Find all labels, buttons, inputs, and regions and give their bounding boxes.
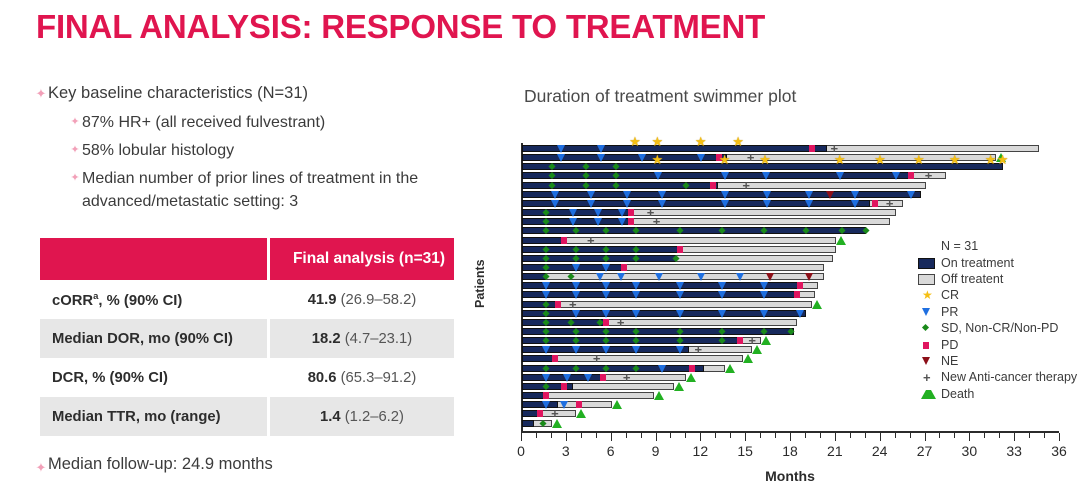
marker-pr-icon [718,291,726,299]
swimmer-bar [522,273,824,280]
marker-pr-icon [542,346,550,354]
marker-pr-icon [836,172,844,180]
marker-pr-icon [907,191,915,199]
swimmer-bar [522,237,836,244]
swimmer-bar [522,191,921,198]
marker-pr-icon [721,191,729,199]
marker-ne-icon [766,273,774,281]
marker-pr-icon [584,374,592,382]
x-axis-tick [880,433,881,441]
footnote-marker: a [93,291,98,302]
swimmer-bar [522,392,654,399]
x-axis-tick-label: 33 [1006,443,1022,459]
swimmer-bar [522,355,743,362]
bar-segment-on-treatment [522,282,800,289]
swimmer-bar [522,346,752,353]
legend-symbol [915,353,941,369]
legend-marker-sd-icon [922,324,929,331]
bullet-label: Key baseline characteristics (N=31) [48,82,308,106]
marker-pr-icon [676,346,684,354]
swimmer-bar [522,172,946,179]
bullet-marker-icon: ✦ [68,111,82,128]
marker-death-icon [812,300,822,309]
y-axis-label: Patients [473,259,487,308]
marker-pr-icon [602,346,610,354]
marker-pr-icon [658,365,666,373]
marker-pr-icon [632,310,640,318]
marker-death-icon [654,391,664,400]
marker-pr-icon [676,291,684,299]
swimmer-bar [522,383,674,390]
marker-tx-icon [925,169,933,182]
x-axis-minor-tick [939,433,940,438]
legend-symbol: ★ [915,287,941,303]
x-axis-minor-tick [685,433,686,438]
slide-root: FINAL ANALYSIS: RESPONSE TO TREATMENT ✦K… [0,0,1080,503]
marker-pr-icon [658,191,666,199]
marker-pd-icon [628,218,634,225]
bar-segment-off-treatment [522,301,812,308]
x-axis-tick-label: 36 [1051,443,1067,459]
marker-pr-icon [569,218,577,226]
marker-pd-icon [797,282,803,289]
x-axis-minor-tick [641,433,642,438]
x-axis-tick-label: 12 [693,443,709,459]
bar-segment-on-treatment [522,145,827,152]
table-cell-metric: DCR, % (90% CI) [40,358,269,397]
x-axis-tick [566,433,567,441]
marker-death-icon [725,364,735,373]
marker-death-icon [752,345,762,354]
x-axis-minor-tick [865,433,866,438]
marker-pr-icon [623,200,631,208]
legend-swatch-on-icon [918,258,935,269]
marker-pr-icon [805,191,813,199]
bar-segment-on-treatment [522,200,870,207]
table-cell-metric: Median TTR, mo (range) [40,397,269,436]
x-axis-minor-tick [1044,433,1045,438]
legend-item-label: On treatment [941,256,1014,270]
bar-segment-on-treatment [522,154,727,161]
marker-pr-icon [594,218,602,226]
x-axis-minor-tick [536,433,537,438]
swimmer-bar [522,420,552,427]
marker-pd-icon [628,209,634,216]
marker-pr-icon [618,209,626,217]
marker-pr-icon [623,191,631,199]
bullet-list: ✦Key baseline characteristics (N=31)✦87%… [34,82,494,219]
x-axis-minor-tick [910,433,911,438]
bullet-item: ✦Key baseline characteristics (N=31) [34,82,494,106]
marker-pr-icon [718,282,726,290]
bullet-marker-icon: ✦ [34,455,48,476]
legend-symbol [915,271,941,287]
table-header: Final analysis (n=31) [40,238,454,280]
swimmer-bar [522,227,866,234]
x-axis-minor-tick [551,433,552,438]
legend-symbol [915,386,941,402]
marker-pr-icon [676,282,684,290]
marker-tx-icon [587,234,595,247]
marker-pr-icon [557,154,565,162]
swimmer-bar [522,145,1039,152]
legend-item: On treatment [915,254,1080,270]
swimmer-plot: Duration of treatment swimmer plot Patie… [460,80,1080,503]
x-axis-tick-label: 0 [517,443,525,459]
marker-pr-icon [655,273,663,281]
marker-ne-icon [826,191,834,199]
table-header-final-analysis: Final analysis (n=31) [269,238,455,280]
marker-pd-icon [677,246,683,253]
table-cell-value: 18.2 (4.7–23.1) [269,319,455,358]
marker-pr-icon [542,374,550,382]
chart-legend: N = 31 On treatmentOff treatent★CRPRSD, … [915,238,1080,402]
swimmer-bar [522,374,686,381]
bullet-marker-icon: ✦ [34,82,48,100]
marker-pr-icon [594,209,602,217]
legend-marker-pr-icon [922,308,930,316]
legend-item: SD, Non-CR/Non-PD [915,320,1080,336]
x-axis-tick [1059,433,1060,441]
x-axis-tick [790,433,791,441]
legend-item-label: Off treatent [941,272,1003,286]
legend-item-label: NE [941,354,958,368]
bar-segment-off-treatment [522,237,836,244]
marker-pr-icon [892,172,900,180]
x-axis-tick-label: 6 [607,443,615,459]
marker-pd-icon [908,172,914,179]
marker-pd-icon [603,319,609,326]
marker-pd-icon [809,145,815,152]
marker-pd-icon [737,337,743,344]
swimmer-bar [522,255,833,262]
table-body: cORRa, % (90% CI)41.9 (26.9–58.2)Median … [40,280,454,436]
marker-tx-icon [569,298,577,311]
legend-symbol [915,255,941,271]
value-interval: (26.9–58.2) [337,292,417,308]
marker-death-icon [576,409,586,418]
x-axis-minor-tick [775,433,776,438]
value-interval: (4.7–23.1) [341,331,413,347]
marker-pr-icon [618,218,626,226]
legend-symbol: + [915,369,941,385]
marker-pr-icon [542,291,550,299]
marker-pr-icon [542,282,550,290]
marker-pd-icon [555,301,561,308]
legend-item: PD [915,336,1080,352]
table-cell-metric: Median DOR, mo (90% CI) [40,319,269,358]
swimmer-bar [522,218,890,225]
x-axis-tick [1014,433,1015,441]
bar-segment-on-treatment [522,355,555,362]
x-axis-tick-label: 15 [737,443,753,459]
bar-segment-on-treatment [522,319,606,326]
marker-pr-icon [560,401,568,409]
legend-item: PR [915,304,1080,320]
x-axis-minor-tick [626,433,627,438]
marker-pd-icon [576,401,582,408]
marker-pr-icon [602,291,610,299]
table-row: DCR, % (90% CI)80.6 (65.3–91.2) [40,358,454,397]
marker-pr-icon [597,154,605,162]
x-axis-minor-tick [954,433,955,438]
bullet-label: 58% lobular histology [82,139,234,162]
marker-pd-icon [872,200,878,207]
value-point-estimate: 18.2 [312,331,341,347]
page-title: FINAL ANALYSIS: RESPONSE TO TREATMENT [36,8,765,46]
legend-item: NE [915,353,1080,369]
marker-pr-icon [654,172,662,180]
x-axis-tick [656,433,657,441]
marker-tx-icon [617,316,625,329]
legend-symbol [915,304,941,320]
marker-pr-icon [762,172,770,180]
bullet-label: 87% HR+ (all received fulvestrant) [82,111,325,134]
marker-pr-icon [563,374,571,382]
marker-pr-icon [551,191,559,199]
legend-item-label: CR [941,288,959,302]
marker-tx-icon [742,179,750,192]
value-interval: (1.2–6.2) [341,409,404,425]
marker-death-icon [836,236,846,245]
legend-item: ★CR [915,287,1080,303]
marker-pd-icon [561,237,567,244]
swimmer-bar [522,264,824,271]
marker-tx-icon [653,215,661,228]
table-row: cORRa, % (90% CI)41.9 (26.9–58.2) [40,280,454,319]
legend-marker-ne-icon [922,357,930,365]
swimmer-bar [522,282,818,289]
swimmer-bar [522,182,926,189]
marker-pr-icon [572,310,580,318]
x-axis-tick [611,433,612,441]
x-axis-tick-label: 18 [782,443,798,459]
marker-tx-icon [886,197,894,210]
marker-pr-icon [632,282,640,290]
x-axis-tick-label: 27 [917,443,933,459]
marker-death-icon [743,354,753,363]
marker-pr-icon [721,172,729,180]
marker-pd-icon [621,264,627,271]
bar-segment-on-treatment [522,291,797,298]
value-interval: (65.3–91.2) [337,370,417,386]
table-cell-value: 80.6 (65.3–91.2) [269,358,455,397]
value-point-estimate: 41.9 [308,292,337,308]
marker-pd-icon [561,383,567,390]
swimmer-bar [522,291,815,298]
marker-pr-icon [542,401,550,409]
value-point-estimate: 80.6 [308,370,337,386]
marker-pr-icon [587,200,595,208]
marker-pr-icon [557,145,565,153]
marker-pr-icon [760,291,768,299]
legend-symbol [915,320,941,336]
legend-marker-cr-icon: ★ [922,289,933,301]
marker-death-icon [552,419,562,428]
x-axis-minor-tick [895,433,896,438]
marker-death-icon [674,382,684,391]
marker-pr-icon [718,310,726,318]
legend-marker-pd-icon [923,342,929,349]
marker-pd-icon [600,374,606,381]
x-axis-tick [745,433,746,441]
bullet-item: ✦Median number of prior lines of treatme… [68,167,494,213]
bullet-item: ✦87% HR+ (all received fulvestrant) [68,111,494,134]
marker-pr-icon [697,154,705,162]
swimmer-bar [522,301,812,308]
legend-item: Off treatent [915,271,1080,287]
marker-pr-icon [572,346,580,354]
swimmer-bar [522,337,761,344]
x-axis-tick [835,433,836,441]
x-axis-tick-label: 24 [872,443,888,459]
bullet-marker-icon: ✦ [68,139,82,156]
marker-pd-icon [794,291,800,298]
marker-pd-icon [710,182,716,189]
marker-pr-icon [805,200,813,208]
marker-pr-icon [760,310,768,318]
marker-tx-icon [623,371,631,384]
bullet-item: ✦58% lobular histology [68,139,494,162]
marker-pr-icon [597,145,605,153]
marker-pd-icon [543,392,549,399]
marker-pr-icon [572,264,580,272]
swimmer-bar [522,200,903,207]
marker-pr-icon [632,346,640,354]
marker-tx-icon [593,352,601,365]
marker-ne-icon [805,273,813,281]
chart-title: Duration of treatment swimmer plot [524,86,796,107]
x-axis-tick-label: 30 [962,443,978,459]
bar-segment-on-treatment [522,172,914,179]
x-axis-minor-tick [596,433,597,438]
marker-pd-icon [537,410,543,417]
marker-pr-icon [602,282,610,290]
marker-pr-icon [736,273,744,281]
marker-pr-icon [587,191,595,199]
swimmer-bar [522,310,806,317]
marker-tx-icon [747,151,755,164]
marker-pr-icon [572,282,580,290]
marker-death-icon [612,400,622,409]
swimmer-bar [522,401,612,408]
marker-pr-icon [851,191,859,199]
x-axis-tick [925,433,926,441]
marker-pr-icon [638,154,646,162]
marker-pd-icon [552,355,558,362]
marker-pr-icon [760,282,768,290]
bullet-label: Median number of prior lines of treatmen… [82,167,494,213]
legend-item-label: Death [941,387,974,401]
table-row: Median TTR, mo (range)1.4 (1.2–6.2) [40,397,454,436]
marker-death-icon [761,336,771,345]
x-axis-tick [700,433,701,441]
legend-item: +New Anti-cancer therapy [915,369,1080,385]
marker-pr-icon [676,310,684,318]
marker-pr-icon [569,209,577,217]
marker-pr-icon [551,200,559,208]
x-axis-minor-tick [730,433,731,438]
legend-item-label: PD [941,338,958,352]
swimmer-bar [522,319,797,326]
value-point-estimate: 1.4 [320,409,341,425]
marker-pr-icon [721,200,729,208]
footer-bullet-label: Median follow-up: 24.9 months [48,455,273,474]
bar-segment-on-treatment [522,301,558,308]
x-axis-minor-tick [1029,433,1030,438]
marker-pr-icon [796,310,804,318]
marker-pr-icon [602,264,610,272]
table-cell-metric: cORRa, % (90% CI) [40,280,269,319]
bar-segment-on-treatment [522,420,534,427]
table-header-blank [40,238,269,280]
response-table: Final analysis (n=31) cORRa, % (90% CI)4… [40,238,454,436]
x-axis-minor-tick [715,433,716,438]
marker-pd-icon [689,365,695,372]
x-axis-minor-tick [984,433,985,438]
swimmer-bar [522,209,896,216]
x-axis-tick-label: 9 [652,443,660,459]
marker-tx-icon [695,343,703,356]
marker-pr-icon [658,200,666,208]
x-axis-minor-tick [760,433,761,438]
legend-count-spacer [915,238,941,254]
x-axis-minor-tick [581,433,582,438]
x-axis-minor-tick [850,433,851,438]
legend-marker-dt-icon [921,390,936,399]
x-axis-tick [969,433,970,441]
x-axis-tick [521,433,522,441]
legend-item-label: SD, Non-CR/Non-PD [941,321,1058,335]
marker-pr-icon [763,191,771,199]
marker-pr-icon [763,200,771,208]
table-row: Median DOR, mo (90% CI)18.2 (4.7–23.1) [40,319,454,358]
x-axis-minor-tick [820,433,821,438]
marker-pr-icon [617,273,625,281]
marker-pr-icon [602,310,610,318]
legend-swatch-off-icon [918,274,935,285]
legend-symbol [915,337,941,353]
footer-bullet: ✦ Median follow-up: 24.9 months [34,455,273,476]
swimmer-bar [522,410,576,417]
marker-pr-icon [632,291,640,299]
x-axis-label: Months [765,468,815,484]
x-axis-minor-tick [805,433,806,438]
x-axis-tick-label: 3 [562,443,570,459]
table-cell-value: 1.4 (1.2–6.2) [269,397,455,436]
marker-pr-icon [697,273,705,281]
legend-item-label: New Anti-cancer therapy [941,370,1077,384]
marker-death-icon [686,373,696,382]
legend-count-label: N = 31 [941,239,978,253]
swimmer-bar [522,246,836,253]
x-axis-minor-tick [670,433,671,438]
legend-marker-tx-icon: + [923,371,931,384]
marker-pr-icon [596,273,604,281]
legend-item: Death [915,386,1080,402]
x-axis-minor-tick [999,433,1000,438]
legend-item-label: PR [941,305,958,319]
bullet-marker-icon: ✦ [68,167,82,184]
table-cell-value: 41.9 (26.9–58.2) [269,280,455,319]
x-axis-tick-label: 21 [827,443,843,459]
legend-count: N = 31 [915,238,1080,254]
marker-pr-icon [851,200,859,208]
